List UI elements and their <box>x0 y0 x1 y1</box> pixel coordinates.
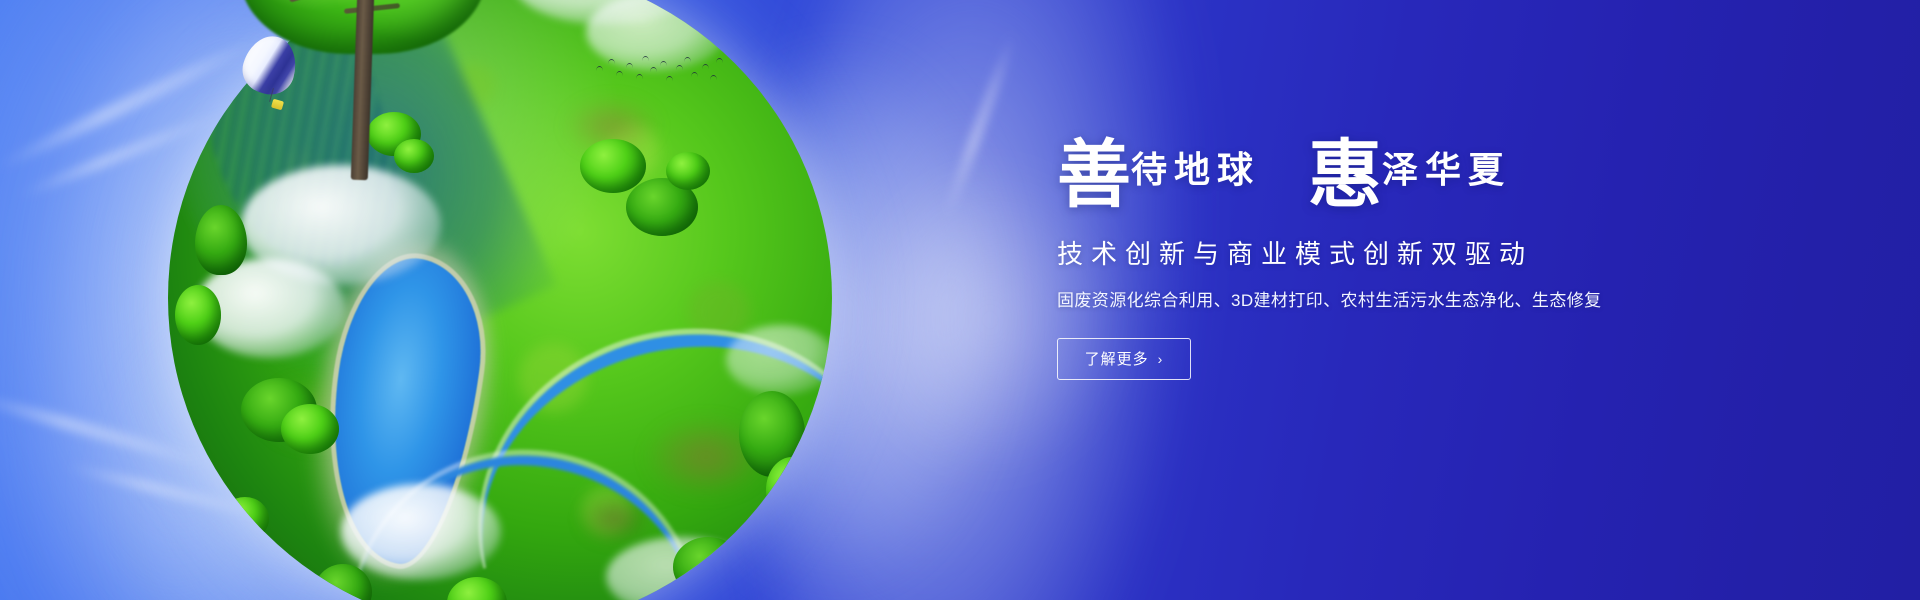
flock-of-birds-icon <box>592 52 722 88</box>
tree-canopy <box>281 404 339 454</box>
subtitle: 技术创新与商业模式创新双驱动 <box>1057 238 1757 271</box>
headline-small-text-2: 泽华夏 <box>1382 149 1511 191</box>
learn-more-label: 了解更多 <box>1085 348 1149 369</box>
tree-canopy <box>666 152 710 190</box>
hot-air-balloon <box>244 36 302 114</box>
tree-canopy <box>175 285 221 345</box>
headline: 善待地球惠泽华夏 <box>1057 138 1757 222</box>
learn-more-button[interactable]: 了解更多 › <box>1057 338 1191 380</box>
tree-canopy <box>195 205 247 275</box>
headline-brush-char-1: 善 <box>1057 132 1131 218</box>
cloud <box>341 484 501 580</box>
tree-canopy <box>221 497 269 541</box>
balloon-basket <box>271 99 284 111</box>
hero-copy: 善待地球惠泽华夏 技术创新与商业模式创新双驱动 固废资源化综合利用、3D建材打印… <box>1057 138 1757 380</box>
tree-canopy <box>673 537 743 597</box>
tree-canopy <box>580 139 646 193</box>
cirrus-streak <box>941 29 1019 220</box>
tree-canopy <box>766 457 818 523</box>
balloon-envelope <box>237 30 303 100</box>
chevron-right-icon: › <box>1158 351 1164 367</box>
tagline: 固废资源化综合利用、3D建材打印、农村生活污水生态净化、生态修复 <box>1057 290 1757 312</box>
headline-brush-char-2: 惠 <box>1308 132 1382 218</box>
cloud <box>726 325 832 395</box>
headline-small-text-1: 待地球 <box>1131 149 1260 191</box>
hero-banner: 善待地球惠泽华夏 技术创新与商业模式创新双驱动 固废资源化综合利用、3D建材打印… <box>0 0 1920 600</box>
